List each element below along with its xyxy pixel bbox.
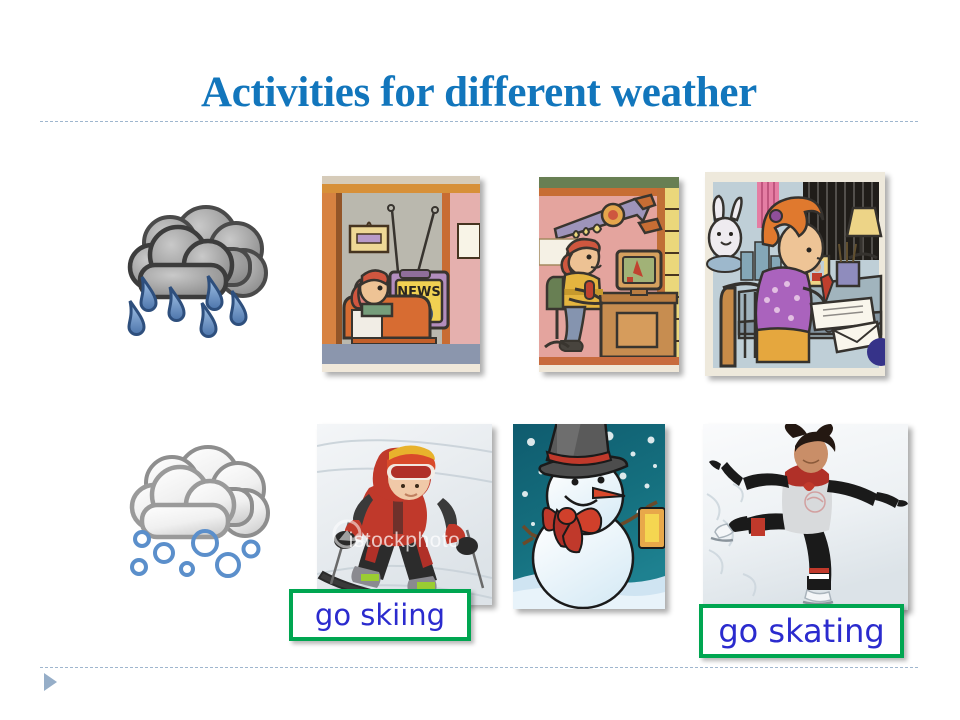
caption-go-skiing: go skiing [289,589,471,641]
title-divider-top [40,121,918,122]
page-title: Activities for different weather [40,68,918,118]
photo-watch-tv[interactable]: NEWS [322,176,480,372]
photo-write-letter[interactable] [705,172,885,376]
photo-skating[interactable] [703,424,908,610]
play-arrow-icon[interactable] [44,673,57,691]
caption-go-skating: go skating [699,604,904,658]
snow-cloud-icon [112,425,282,585]
slide-canvas: Activities for different weather [0,0,960,720]
photo-skiing[interactable]: istockphoto [317,424,492,605]
footer-divider-bottom [40,667,918,668]
rain-cloud-icon [110,185,280,345]
photo-snowman[interactable] [513,424,665,609]
photo-play-games[interactable] [539,177,679,372]
